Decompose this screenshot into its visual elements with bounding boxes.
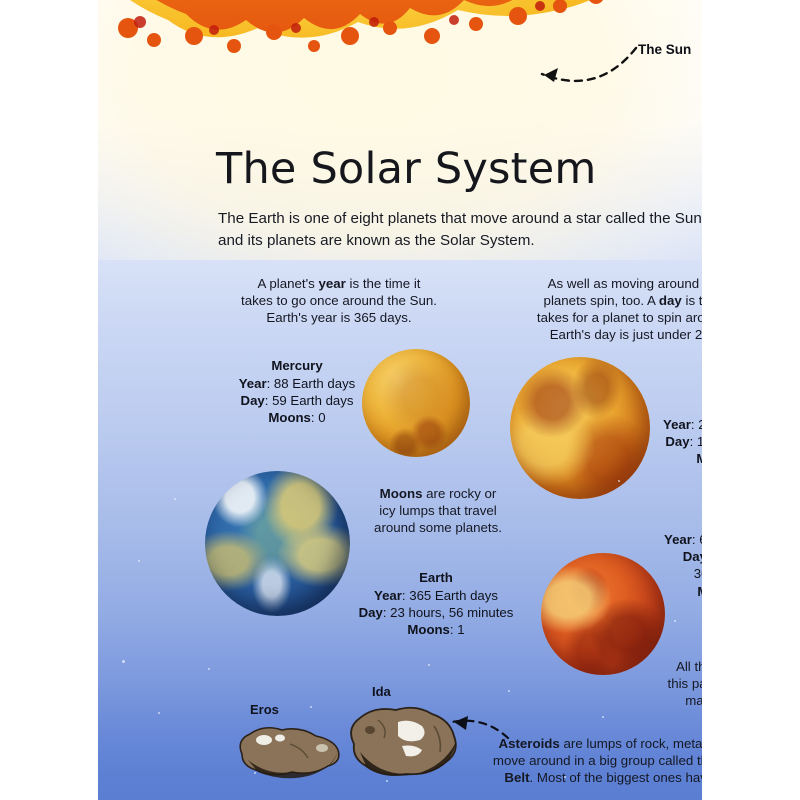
fact-mercury-day-value: 59 Earth days xyxy=(272,393,353,408)
planet-mars xyxy=(541,553,665,675)
star xyxy=(386,780,388,782)
fact-venus-moons-label: Moons xyxy=(696,451,702,466)
blurb-year: A planet's year is the time it takes to … xyxy=(208,276,470,327)
blurb-day-line1: As well as moving around the Sun, xyxy=(548,276,702,291)
blurb-day-line2a: planets spin, too. A xyxy=(544,293,659,308)
blurb-moons-keyword: Moons xyxy=(380,486,423,501)
fact-earth-year-value: 365 Earth days xyxy=(409,588,498,603)
blurb-asteroids: Asteroids are lumps of rock, metal or ic… xyxy=(470,736,702,787)
blurb-rock-line2: this page are mostly xyxy=(668,676,703,691)
blurb-day-keyword: day xyxy=(659,293,682,308)
fact-mercury-name: Mercury xyxy=(206,357,388,374)
solar-system-page: The Sun The Solar System The Earth is on… xyxy=(0,0,800,800)
star xyxy=(174,498,176,500)
page-title: The Solar System xyxy=(216,148,596,191)
fact-mars-year-label: Year xyxy=(664,532,692,547)
fact-mercury-moons-label: Moons xyxy=(268,410,311,425)
blurb-asteroids-line1b: are lumps of rock, metal or ice that xyxy=(560,736,702,751)
fact-earth-day-label: Day xyxy=(359,605,383,620)
planet-venus xyxy=(510,357,650,499)
star xyxy=(428,664,430,666)
fact-venus-name: Venus xyxy=(650,398,702,415)
fact-mars-day-value2: 30 minutes xyxy=(694,566,702,581)
blurb-year-line1a: A planet's xyxy=(258,276,319,291)
asteroid-label-eros: Eros xyxy=(250,702,279,717)
blurb-day-line2c: is the time it xyxy=(682,293,702,308)
blurb-asteroids-keyword3: Belt xyxy=(504,770,529,785)
fact-mercury-day-label: Day xyxy=(241,393,265,408)
blurb-day-line4: Earth's day is just under 24 hours. xyxy=(550,327,702,342)
fact-earth-year-label: Year xyxy=(374,588,402,603)
fact-venus-day-value: 117 Earth days xyxy=(697,434,702,449)
blurb-year-keyword: year xyxy=(318,276,345,291)
fact-mars-name: Mars xyxy=(651,513,702,530)
star xyxy=(158,712,160,714)
blurb-rock-line3a: made of xyxy=(685,693,702,708)
star xyxy=(564,776,566,778)
fact-venus-year-value: 225 Earth days xyxy=(698,417,702,432)
asteroid-eros-illustration xyxy=(234,718,356,782)
fact-earth-day-value: 23 hours, 56 minutes xyxy=(390,605,513,620)
fact-earth-moons-label: Moons xyxy=(407,622,450,637)
fact-venus: Venus Year: 225 Earth days Day: 117 Eart… xyxy=(650,398,702,468)
blurb-rock-line1: All the planets on xyxy=(676,659,702,674)
star xyxy=(122,660,125,663)
fact-mercury: Mercury Year: 88 Earth days Day: 59 Eart… xyxy=(206,357,388,427)
blurb-rock: All the planets on this page are mostly … xyxy=(654,659,702,710)
asteroid-label-ida: Ida xyxy=(372,684,391,699)
fact-mercury-year-value: 88 Earth days xyxy=(274,376,355,391)
sun-label: The Sun xyxy=(638,42,691,57)
blurb-moons-line3: around some planets. xyxy=(374,520,502,535)
star xyxy=(602,716,604,718)
fact-earth: Earth Year: 365 Earth days Day: 23 hours… xyxy=(320,569,552,639)
fact-venus-day-label: Day xyxy=(665,434,689,449)
star xyxy=(254,772,256,774)
star xyxy=(618,480,620,482)
star xyxy=(508,690,510,692)
star xyxy=(674,620,676,622)
star xyxy=(208,668,210,670)
fact-mars-year-value: 687 Earth days xyxy=(699,532,702,547)
blurb-year-line2: takes to go once around the Sun. xyxy=(241,293,437,308)
blurb-asteroids-keyword: Asteroids xyxy=(498,736,559,751)
fact-earth-name: Earth xyxy=(320,569,552,586)
fact-mercury-year-label: Year xyxy=(239,376,267,391)
blurb-moons: Moons are rocky or icy lumps that travel… xyxy=(353,486,523,537)
page-intro: The Earth is one of eight planets that m… xyxy=(218,208,702,252)
blurb-year-line1c: is the time it xyxy=(346,276,421,291)
fact-mercury-moons-value: 0 xyxy=(318,410,325,425)
blurb-day-line3: takes for a planet to spin around once. xyxy=(537,310,702,325)
star xyxy=(138,560,140,562)
page-sheet: The Sun The Solar System The Earth is on… xyxy=(98,0,702,800)
fact-mars-moons-label: Moons xyxy=(697,584,702,599)
asteroid-ida-illustration xyxy=(344,704,468,786)
sun-illustration xyxy=(98,0,702,150)
blurb-moons-line1b: are rocky or xyxy=(422,486,496,501)
blurb-moons-line2: icy lumps that travel xyxy=(379,503,497,518)
star xyxy=(310,706,312,708)
blurb-asteroids-line3b: . Most of the biggest ones have names. xyxy=(530,770,702,785)
blurb-asteroids-line2a: move around in a big group called the xyxy=(493,753,702,768)
fact-earth-moons-value: 1 xyxy=(457,622,464,637)
fact-mars-day-label: Day xyxy=(683,549,702,564)
blurb-day: As well as moving around the Sun, planet… xyxy=(500,276,702,344)
blurb-year-line3: Earth's year is 365 days. xyxy=(266,310,411,325)
fact-venus-year-label: Year xyxy=(663,417,691,432)
fact-mars: Mars Year: 687 Earth days Day: 24 hours,… xyxy=(651,513,702,600)
